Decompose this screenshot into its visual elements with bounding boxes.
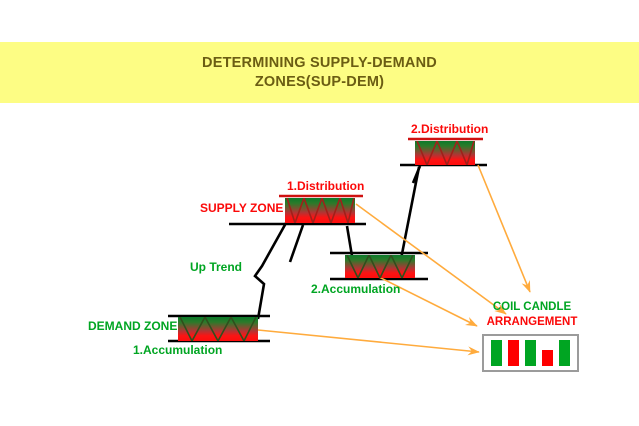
supply-to-accum-left-leg [290, 225, 303, 262]
label-up-trend: Up Trend [190, 261, 242, 274]
arrow-distribution2-to-coil [478, 165, 530, 292]
coil-candle-5 [559, 340, 570, 366]
coil-candle-2 [508, 340, 519, 366]
distribution-2-block [415, 141, 475, 165]
accum-to-distribution2-leg [401, 167, 419, 259]
distribution-2-zigzag [415, 141, 475, 165]
coil-candle-4 [542, 350, 553, 366]
supply-zone-zigzag [285, 198, 355, 223]
supply-zone-block [285, 198, 355, 223]
accumulation-2-block [345, 255, 415, 278]
coil-candle-arrangement-label: COIL CANDLE ARRANGEMENT [478, 300, 586, 330]
label-accumulation-2: 2.Accumulation [311, 283, 400, 296]
label-demand-zone: DEMAND ZONE [88, 320, 177, 333]
diagram-canvas: DETERMINING SUPPLY-DEMAND ZONES(SUP-DEM) [0, 0, 639, 426]
demand-zone-block [178, 317, 258, 341]
coil-label-line-1: COIL CANDLE [478, 300, 586, 315]
label-accumulation-1: 1.Accumulation [133, 344, 222, 357]
coil-candle-3 [525, 340, 536, 366]
arrow-demand-zone-to-coil [258, 330, 479, 352]
demand-zone-zigzag [178, 317, 258, 341]
label-distribution-2: 2.Distribution [411, 123, 488, 136]
coil-label-line-2: ARRANGEMENT [478, 315, 586, 330]
label-distribution-1: 1.Distribution [287, 180, 364, 193]
up-trend-leg [255, 223, 286, 319]
label-supply-zone: SUPPLY ZONE [200, 202, 283, 215]
accumulation-2-zigzag [345, 255, 415, 278]
coil-candle-box [482, 334, 579, 372]
coil-candle-1 [491, 340, 502, 366]
